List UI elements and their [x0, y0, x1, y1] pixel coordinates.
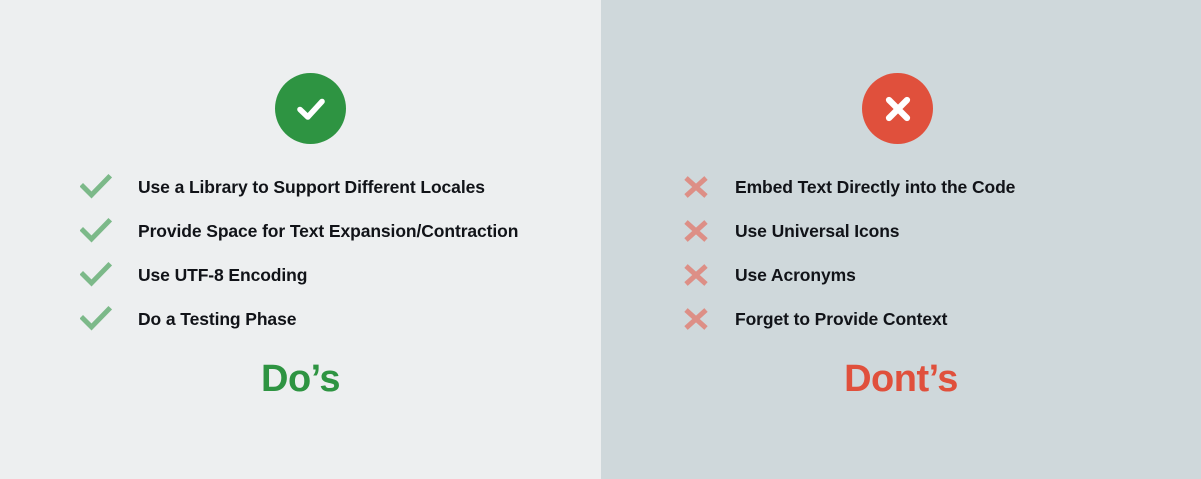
list-item-label: Use Acronyms: [735, 265, 856, 286]
list-item: Use a Library to Support Different Local…: [80, 165, 518, 209]
dos-footer-title: Do’s: [0, 358, 601, 401]
list-item: Use Universal Icons: [681, 209, 1015, 253]
cross-mark-icon: [878, 89, 918, 129]
check-icon: [80, 261, 120, 289]
list-item-label: Use UTF-8 Encoding: [138, 265, 307, 286]
list-item-label: Use a Library to Support Different Local…: [138, 177, 485, 198]
list-item: Embed Text Directly into the Code: [681, 165, 1015, 209]
cross-icon: [681, 173, 721, 201]
list-item: Provide Space for Text Expansion/Contrac…: [80, 209, 518, 253]
donts-badge: [862, 73, 933, 144]
list-item-label: Embed Text Directly into the Code: [735, 177, 1015, 198]
donts-footer-title: Dont’s: [601, 358, 1201, 401]
cross-icon: [681, 305, 721, 333]
cross-icon: [681, 261, 721, 289]
list-item: Use UTF-8 Encoding: [80, 253, 518, 297]
check-icon: [80, 217, 120, 245]
list-item: Use Acronyms: [681, 253, 1015, 297]
check-mark-icon: [291, 89, 331, 129]
donts-list: Embed Text Directly into the Code Use Un…: [681, 165, 1015, 341]
dos-list: Use a Library to Support Different Local…: [80, 165, 518, 341]
check-icon: [80, 173, 120, 201]
list-item-label: Forget to Provide Context: [735, 309, 947, 330]
list-item-label: Use Universal Icons: [735, 221, 899, 242]
list-item-label: Provide Space for Text Expansion/Contrac…: [138, 221, 518, 242]
donts-panel: Embed Text Directly into the Code Use Un…: [601, 0, 1201, 479]
list-item-label: Do a Testing Phase: [138, 309, 296, 330]
dos-panel: Use a Library to Support Different Local…: [0, 0, 601, 479]
check-icon: [80, 305, 120, 333]
list-item: Do a Testing Phase: [80, 297, 518, 341]
dos-badge: [275, 73, 346, 144]
dos-and-donts-board: Use a Library to Support Different Local…: [0, 0, 1201, 479]
cross-icon: [681, 217, 721, 245]
list-item: Forget to Provide Context: [681, 297, 1015, 341]
